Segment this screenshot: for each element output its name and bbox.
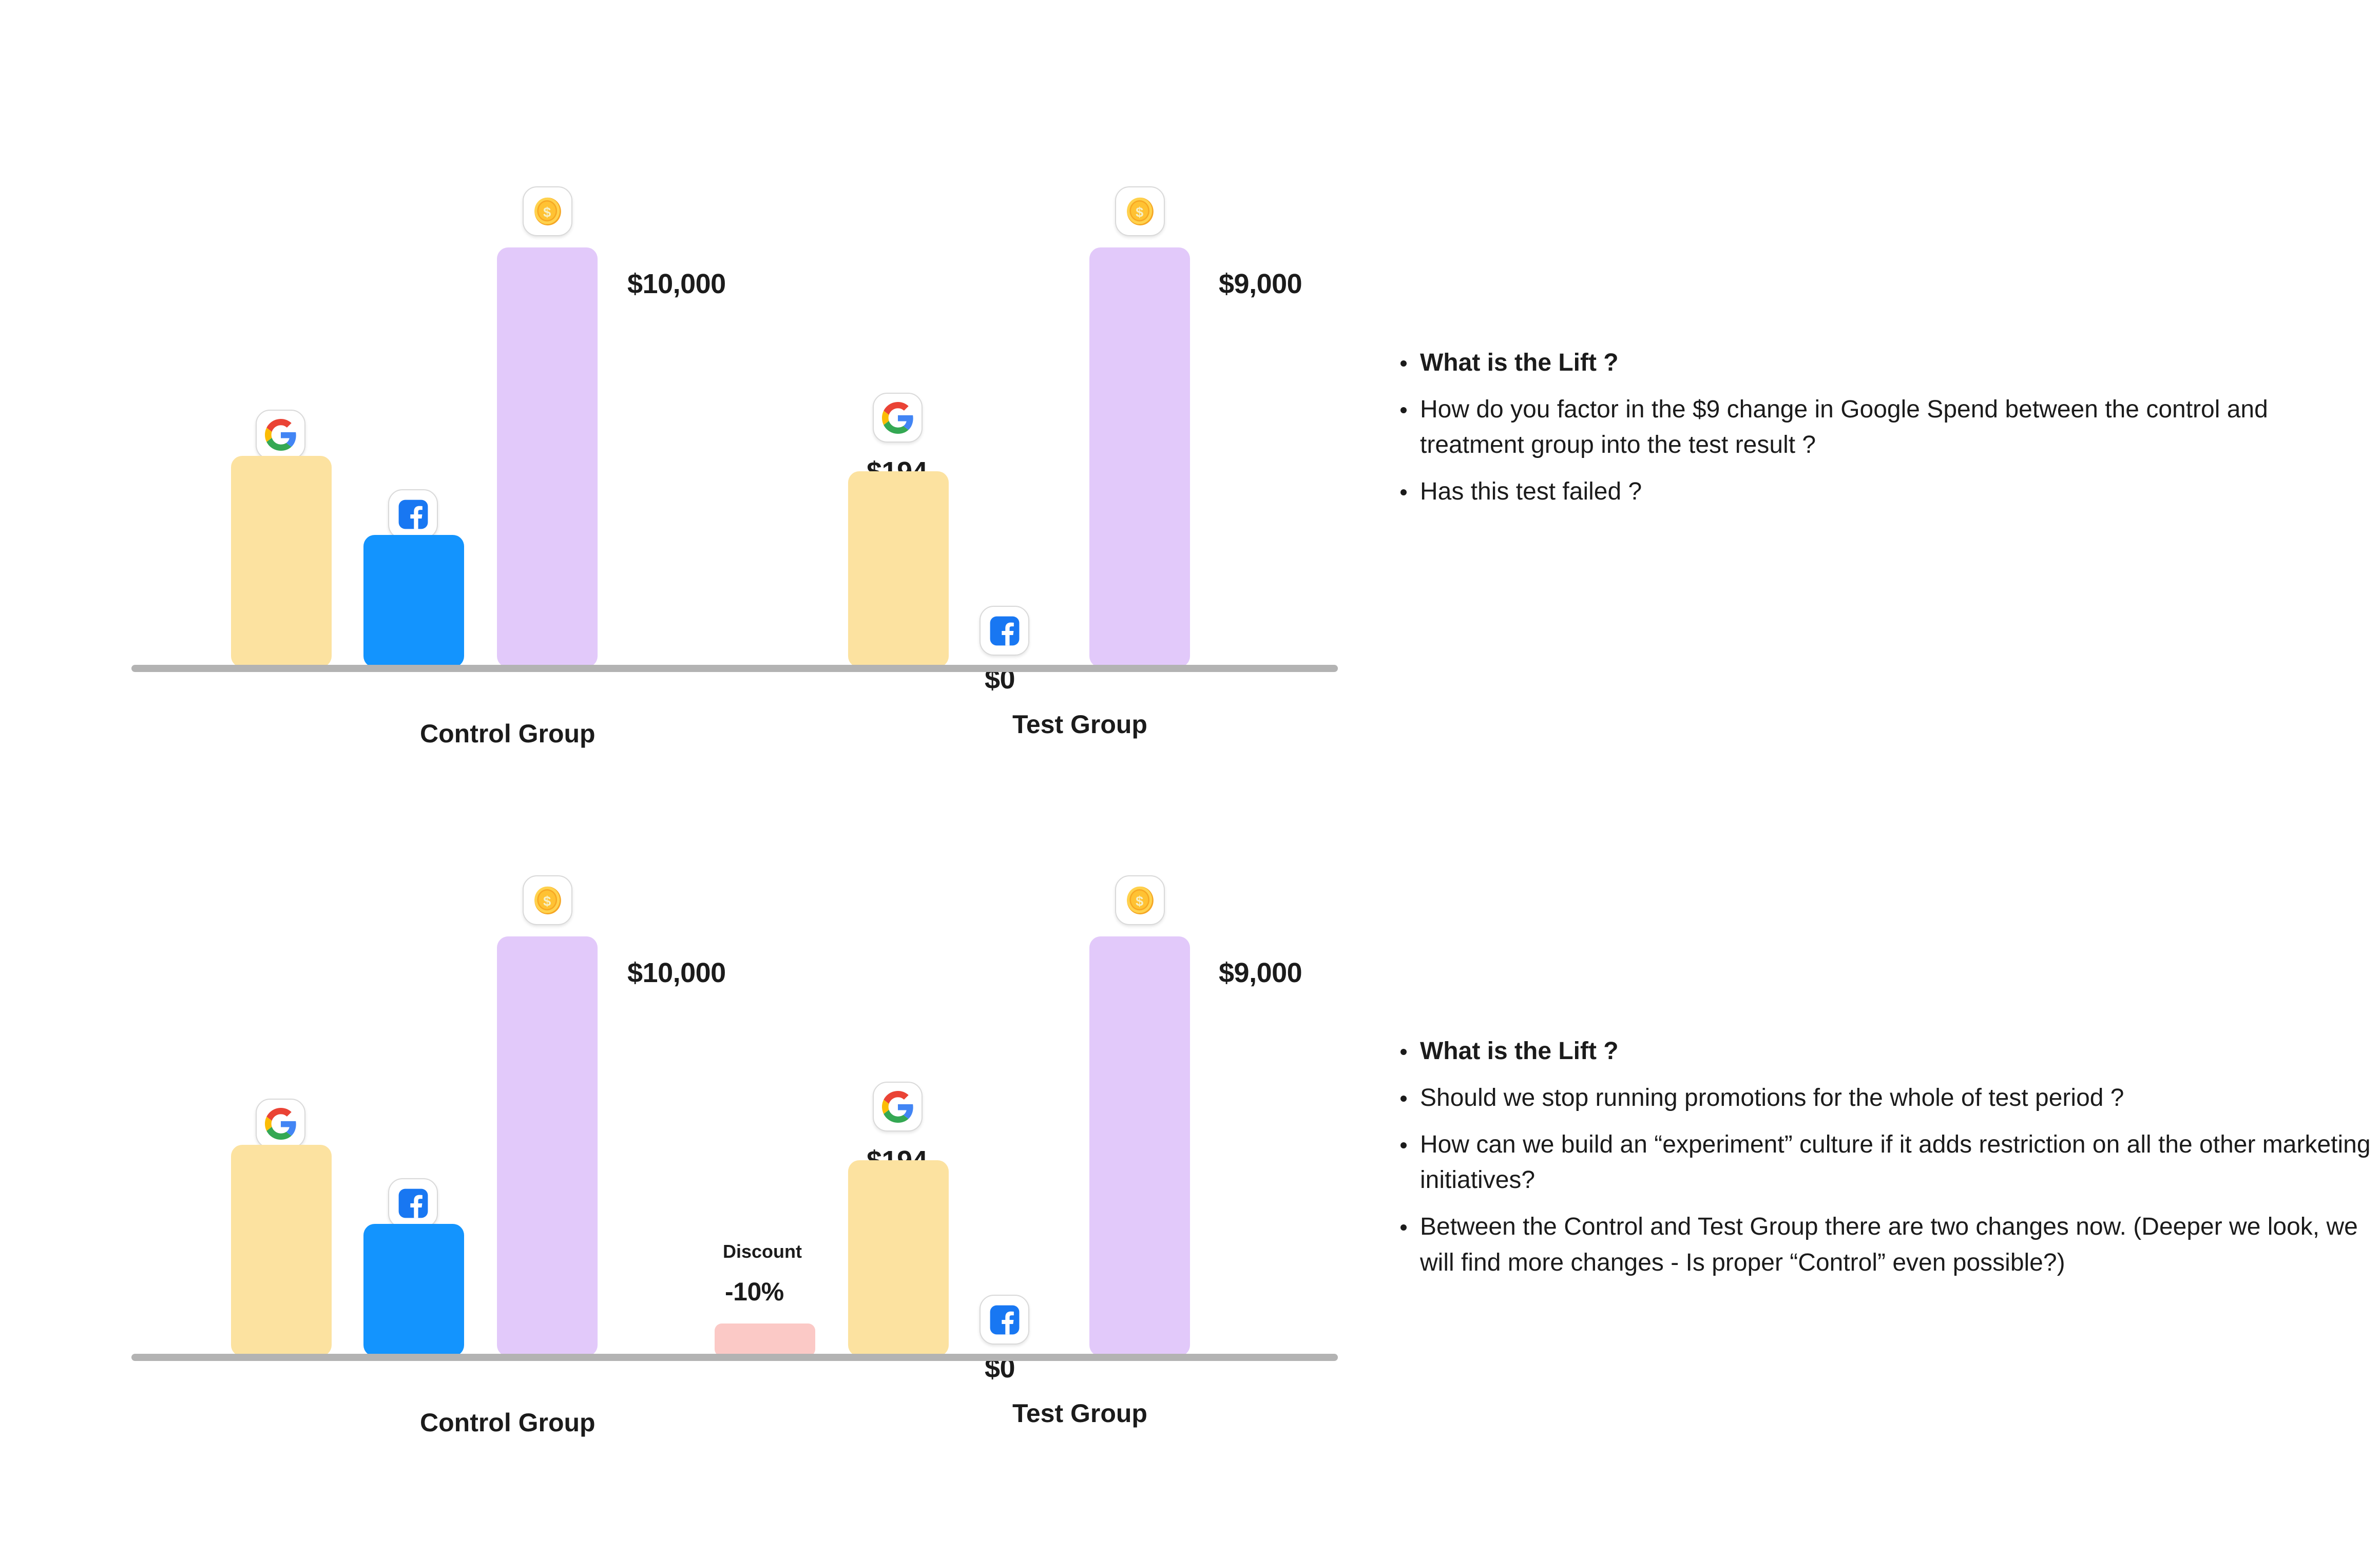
discount-title-label: Discount — [723, 1241, 802, 1262]
chart-2-baseline — [131, 1354, 1338, 1361]
svg-text:$: $ — [1136, 204, 1143, 220]
coin-icon-card-test-1: $ — [1115, 186, 1165, 236]
note-item: Between the Control and Test Group there… — [1395, 1209, 2371, 1280]
chart-2: $185 $100 — [0, 751, 1386, 1469]
chart-1-baseline — [131, 665, 1338, 672]
revenue-value-label-test-1: $9,000 — [1219, 268, 1302, 300]
google-icon — [265, 419, 297, 451]
google-bar-control-1 — [231, 456, 332, 667]
chart-1-control-group-label: Control Group — [420, 719, 596, 749]
coin-icon-card-control-2: $ — [523, 875, 572, 925]
svg-text:$: $ — [543, 204, 551, 220]
facebook-icon — [397, 1187, 429, 1219]
chart-2-control-group-label: Control Group — [420, 1408, 596, 1437]
facebook-icon-card-control-1 — [388, 489, 438, 539]
chart-1-plot: $185 $100 — [0, 62, 1386, 667]
google-icon-card-control-2 — [256, 1099, 305, 1148]
coin-icon-card-test-2: $ — [1115, 875, 1165, 925]
facebook-icon-card-control-2 — [388, 1178, 438, 1228]
chart-1: $185 $100 — [0, 62, 1386, 780]
google-icon — [265, 1108, 297, 1140]
discount-value-label: -10% — [725, 1277, 784, 1307]
google-icon — [882, 402, 914, 434]
chart-1-test-group-label: Test Group — [1012, 709, 1147, 739]
revenue-bar-control-2 — [497, 936, 598, 1356]
facebook-icon — [989, 1304, 1021, 1336]
svg-text:$: $ — [543, 893, 551, 909]
google-bar-control-2 — [231, 1145, 332, 1356]
google-icon-card-control-1 — [256, 410, 305, 459]
note-item: What is the Lift ? — [1395, 345, 2371, 380]
facebook-icon-card-test-2 — [980, 1295, 1029, 1345]
google-bar-test-2 — [848, 1160, 949, 1356]
facebook-icon-card-test-1 — [980, 606, 1029, 656]
notes-block-1: What is the Lift ? How do you factor in … — [1395, 345, 2371, 521]
google-icon — [882, 1091, 914, 1123]
note-item: How can we build an “experiment” culture… — [1395, 1127, 2371, 1198]
google-icon-card-test-2 — [873, 1082, 923, 1131]
revenue-value-label-test-2: $9,000 — [1219, 957, 1302, 989]
facebook-bar-control-2 — [363, 1224, 464, 1356]
facebook-icon — [397, 498, 429, 530]
facebook-bar-control-1 — [363, 535, 464, 667]
chart-2-test-group-label: Test Group — [1012, 1398, 1147, 1428]
revenue-value-label-control-2: $10,000 — [627, 957, 726, 989]
revenue-bar-test-1 — [1089, 247, 1190, 667]
note-item: Should we stop running promotions for th… — [1395, 1080, 2371, 1116]
coin-icon: $ — [532, 885, 564, 916]
slide-canvas: $185 $100 — [0, 0, 2380, 1554]
coin-icon: $ — [1124, 196, 1156, 227]
note-item: Has this test failed ? — [1395, 474, 2371, 509]
notes-list-2: What is the Lift ? Should we stop runnin… — [1395, 1033, 2371, 1280]
revenue-value-label-control-1: $10,000 — [627, 268, 726, 300]
note-item: How do you factor in the $9 change in Go… — [1395, 392, 2371, 463]
facebook-icon — [989, 615, 1021, 647]
google-icon-card-test-1 — [873, 393, 923, 443]
coin-icon-card-control-1: $ — [523, 186, 572, 236]
coin-icon: $ — [532, 196, 564, 227]
svg-text:$: $ — [1136, 893, 1143, 909]
notes-block-2: What is the Lift ? Should we stop runnin… — [1395, 1033, 2371, 1292]
chart-2-plot: $185 $100 — [0, 751, 1386, 1356]
notes-list-1: What is the Lift ? How do you factor in … — [1395, 345, 2371, 509]
discount-bar-test-2 — [715, 1323, 815, 1356]
note-item: What is the Lift ? — [1395, 1033, 2371, 1069]
coin-icon: $ — [1124, 885, 1156, 916]
revenue-bar-test-2 — [1089, 936, 1190, 1356]
google-bar-test-1 — [848, 471, 949, 667]
revenue-bar-control-1 — [497, 247, 598, 667]
